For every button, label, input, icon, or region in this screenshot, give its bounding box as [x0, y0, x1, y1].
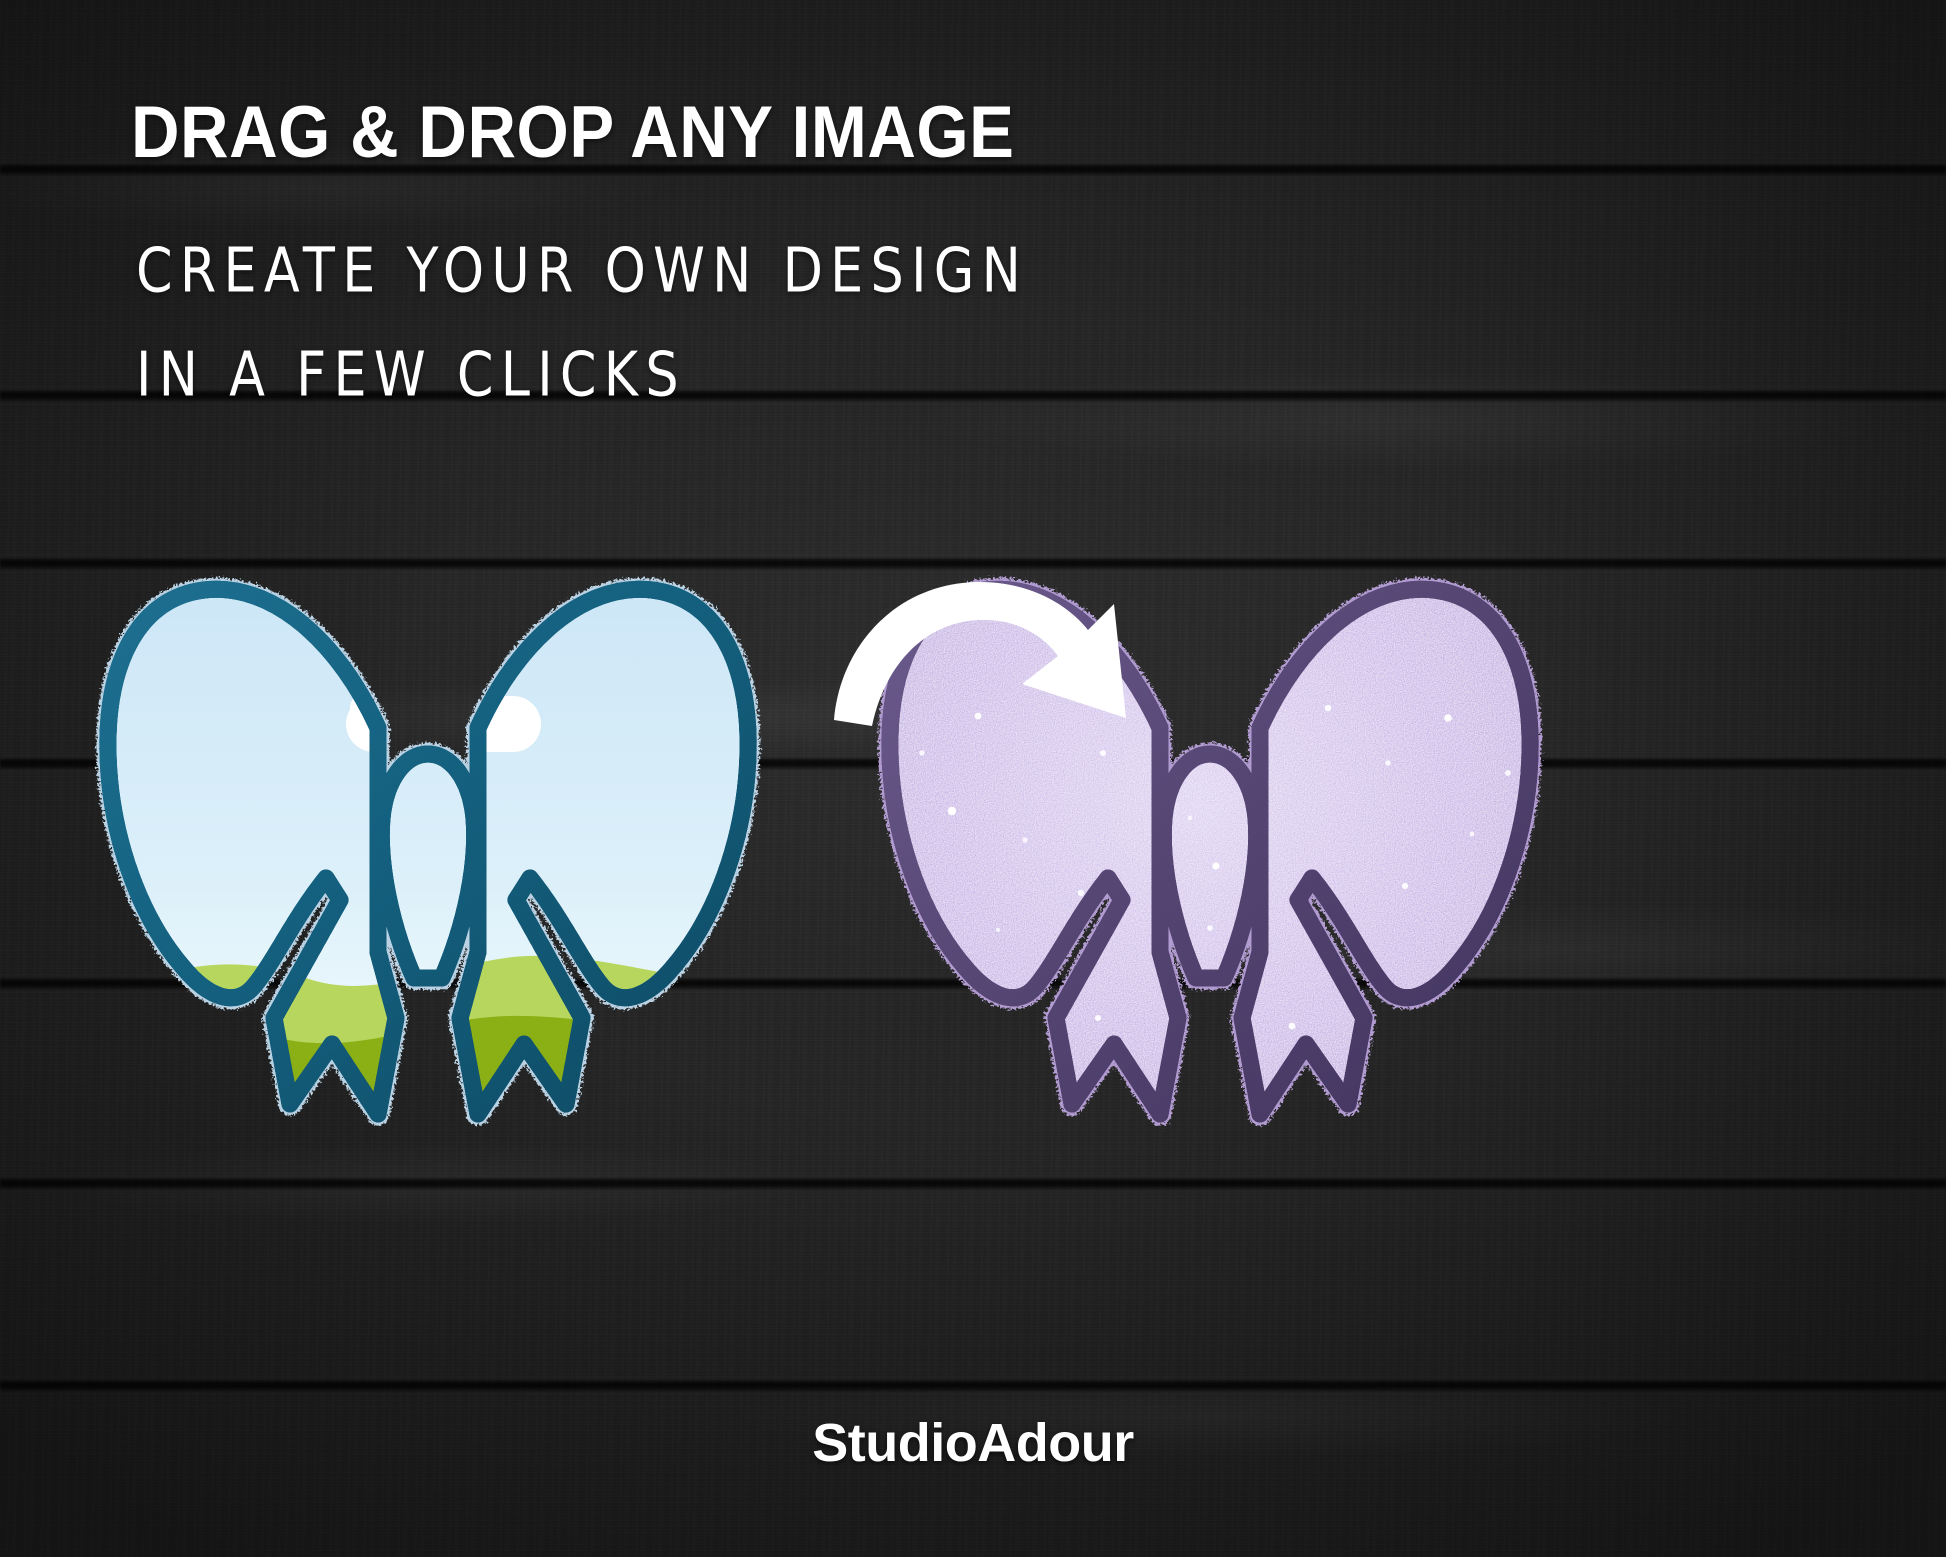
- bow-sky-landscape[interactable]: [78, 548, 778, 1188]
- hill-dark: [78, 1016, 778, 1188]
- curved-arrow-icon: [826, 568, 1156, 738]
- brand-logo-text: StudioAdour: [0, 1412, 1946, 1474]
- hill-light: [78, 956, 778, 1188]
- bow-photo-fill: [78, 548, 778, 1188]
- subtitle-line-1: CREATE YOUR OWN DESIGN: [136, 240, 1028, 302]
- subtitle-line-2: IN A FEW CLICKS: [136, 344, 686, 406]
- page-title: DRAG & DROP ANY IMAGE: [131, 96, 1015, 169]
- promo-image-canvas: DRAG & DROP ANY IMAGE CREATE YOUR OWN DE…: [0, 0, 1946, 1557]
